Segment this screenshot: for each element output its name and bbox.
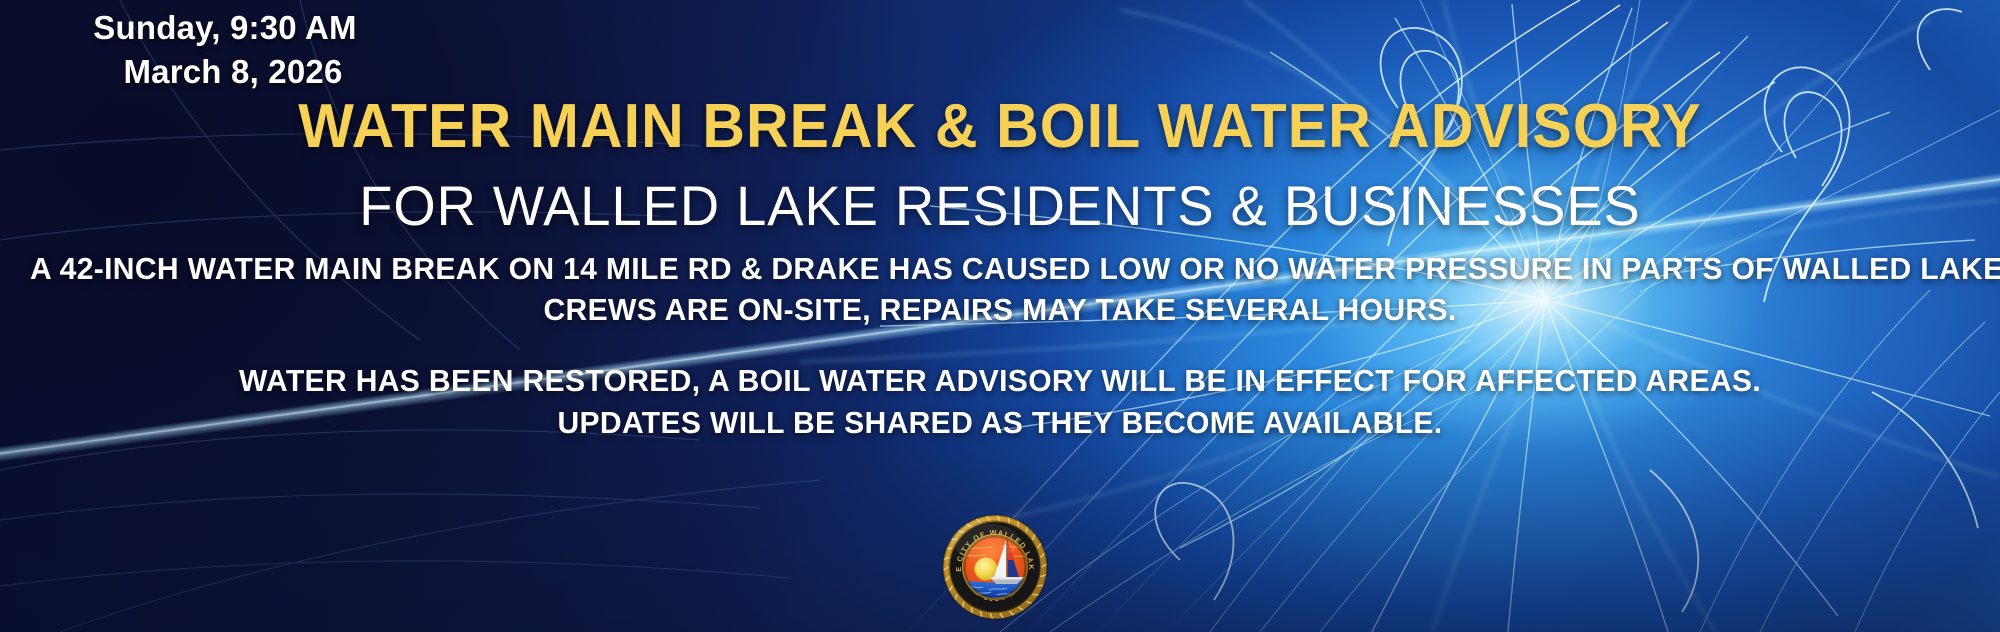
city-seal-icon: SEAL OF THE CITY OF WALLED LAKE MICHIGAN… bbox=[941, 513, 1049, 621]
page-title: WATER MAIN BREAK & BOIL WATER ADVISORY bbox=[50, 96, 1950, 158]
headline-block: WATER MAIN BREAK & BOIL WATER ADVISORY F… bbox=[0, 96, 2000, 234]
datetime-block: Sunday, 9:30 AM March 8, 2026 bbox=[0, 6, 450, 93]
event-date: March 8, 2026 bbox=[0, 50, 450, 94]
banner-content: Sunday, 9:30 AM March 8, 2026 WATER MAIN… bbox=[0, 0, 2000, 632]
advisory-line: CREWS ARE ON-SITE, REPAIRS MAY TAKE SEVE… bbox=[30, 289, 1970, 330]
event-time: Sunday, 9:30 AM bbox=[0, 6, 450, 50]
advisory-body: A 42-INCH WATER MAIN BREAK ON 14 MILE RD… bbox=[0, 248, 2000, 443]
paragraph-spacer bbox=[0, 330, 2000, 360]
advisory-line: WATER HAS BEEN RESTORED, A BOIL WATER AD… bbox=[30, 360, 1970, 401]
water-advisory-banner: Sunday, 9:30 AM March 8, 2026 WATER MAIN… bbox=[0, 0, 2000, 632]
advisory-line: UPDATES WILL BE SHARED AS THEY BECOME AV… bbox=[30, 402, 1970, 443]
advisory-line: A 42-INCH WATER MAIN BREAK ON 14 MILE RD… bbox=[30, 248, 1970, 289]
page-subtitle: FOR WALLED LAKE RESIDENTS & BUSINESSES bbox=[30, 178, 1970, 234]
